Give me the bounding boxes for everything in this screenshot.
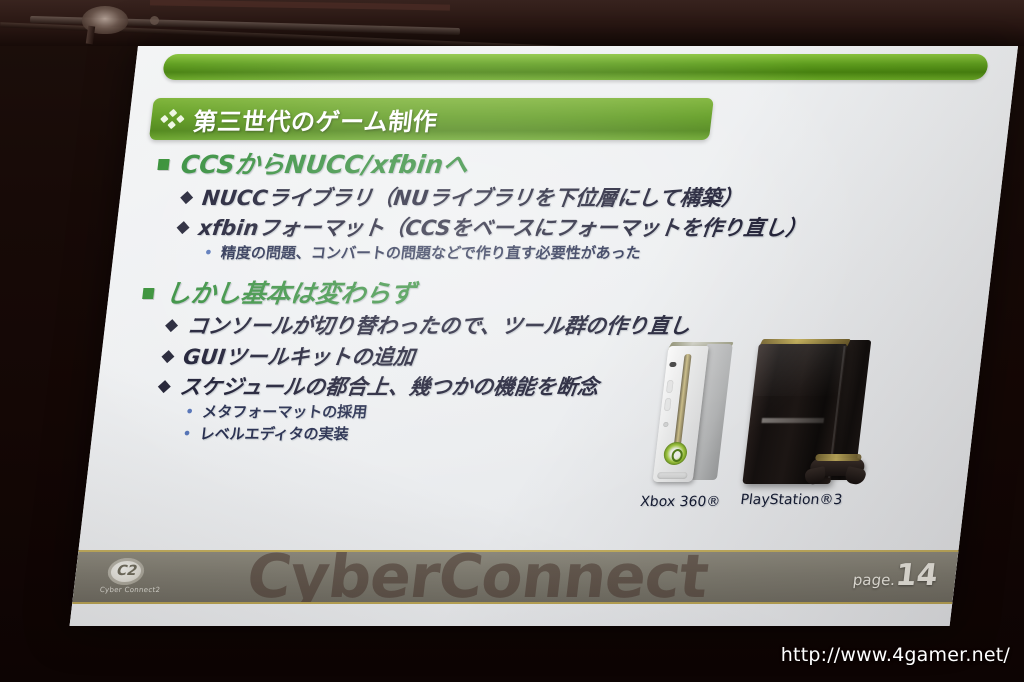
xbox-caption: Xbox 360® bbox=[639, 494, 721, 510]
list-item-label: スケジュールの都合上、幾つかの機能を断念 bbox=[178, 374, 600, 400]
list-item-label: GUIツールキットの追加 bbox=[182, 344, 416, 370]
xbox-vent bbox=[657, 472, 688, 479]
slide-footer: CyberConnect Cyber Connect2 page.14 bbox=[72, 550, 958, 604]
diamond-bullet-icon: ◆ bbox=[176, 219, 191, 236]
list-item-label: NUCCライブラリ（NUライブラリを下位層にして構築） bbox=[201, 185, 745, 211]
list-item: ◆ xfbinフォーマット（CCSをベースにフォーマットを作り直し） bbox=[175, 215, 972, 241]
dot-bullet-icon: • bbox=[181, 426, 192, 442]
controller-right-grip bbox=[843, 466, 867, 486]
photo-watermark: http://www.4gamer.net/ bbox=[781, 644, 1010, 666]
page-number-value: 14 bbox=[894, 558, 940, 593]
ps3-controller-image bbox=[804, 450, 870, 484]
square-bullet-icon bbox=[142, 288, 154, 299]
diamond-cluster-icon bbox=[160, 108, 189, 130]
diamond-bullet-icon: ◆ bbox=[157, 378, 172, 395]
xbox-memory-slot-icon bbox=[664, 398, 672, 411]
playstation-3-console-image bbox=[742, 338, 886, 490]
list-item-label: 精度の問題、コンバートの問題などで作り直す必要性があった bbox=[220, 244, 642, 263]
section-heading: しかし基本は変わらず bbox=[141, 279, 965, 310]
logo-subtext: Cyber Connect2 bbox=[99, 586, 160, 594]
list-item-label: xfbinフォーマット（CCSをベースにフォーマットを作り直し） bbox=[197, 215, 808, 241]
diamond-bullet-icon: ◆ bbox=[179, 189, 194, 206]
presentation-slide: 第三世代のゲーム制作 CCSからNUCC/xfbinへ ◆ NUCCライブラリ（… bbox=[70, 46, 1018, 626]
xbox-port-icon bbox=[669, 362, 677, 367]
controller-left-grip bbox=[804, 466, 826, 486]
section-heading-label: CCSからNUCC/xfbinへ bbox=[179, 150, 470, 181]
page-label: page. bbox=[852, 571, 896, 589]
projection-screen-area: 第三世代のゲーム制作 CCSからNUCC/xfbinへ ◆ NUCCライブラリ（… bbox=[0, 0, 1024, 682]
slide-title: 第三世代のゲーム制作 bbox=[191, 102, 439, 137]
xbox-360-console-image bbox=[653, 342, 734, 482]
xbox-eject-button-icon bbox=[663, 422, 669, 427]
list-item: ◆ NUCCライブラリ（NUライブラリを下位層にして構築） bbox=[179, 185, 976, 211]
section-heading: CCSからNUCC/xfbinへ bbox=[156, 150, 980, 181]
ps3-brand-mark bbox=[762, 418, 825, 423]
console-photos: Xbox 360® PlayStation®3 bbox=[642, 334, 932, 524]
cyberconnect-logo: Cyber Connect2 bbox=[99, 558, 158, 598]
top-accent-bar bbox=[162, 54, 989, 80]
projection-screen: 第三世代のゲーム制作 CCSからNUCC/xfbinへ ◆ NUCCライブラリ（… bbox=[70, 46, 1018, 626]
diamond-bullet-icon: ◆ bbox=[164, 317, 179, 334]
slide-title-bar: 第三世代のゲーム制作 bbox=[149, 98, 714, 140]
controller-top-highlight bbox=[815, 454, 862, 461]
dot-bullet-icon: • bbox=[203, 245, 214, 261]
diamond-bullet-icon: ◆ bbox=[160, 348, 175, 365]
page-number: page.14 bbox=[851, 558, 939, 593]
dot-bullet-icon: • bbox=[184, 404, 195, 420]
playstation-caption: PlayStation®3 bbox=[739, 492, 843, 508]
c2-logo-icon bbox=[106, 558, 145, 585]
section-heading-label: しかし基本は変わらず bbox=[164, 279, 417, 310]
xbox-memory-slot-icon bbox=[666, 380, 674, 393]
list-item: • 精度の問題、コンバートの問題などで作り直す必要性があった bbox=[202, 244, 968, 263]
list-item-label: レベルエディタの実装 bbox=[199, 425, 350, 444]
list-item-label: コンソールが切り替わったので、ツール群の作り直し bbox=[185, 313, 691, 339]
square-bullet-icon bbox=[157, 159, 169, 170]
section-spacer bbox=[145, 265, 967, 279]
cyberconnect-wordmark: CyberConnect bbox=[243, 550, 711, 604]
list-item-label: メタフォーマットの採用 bbox=[201, 403, 368, 422]
